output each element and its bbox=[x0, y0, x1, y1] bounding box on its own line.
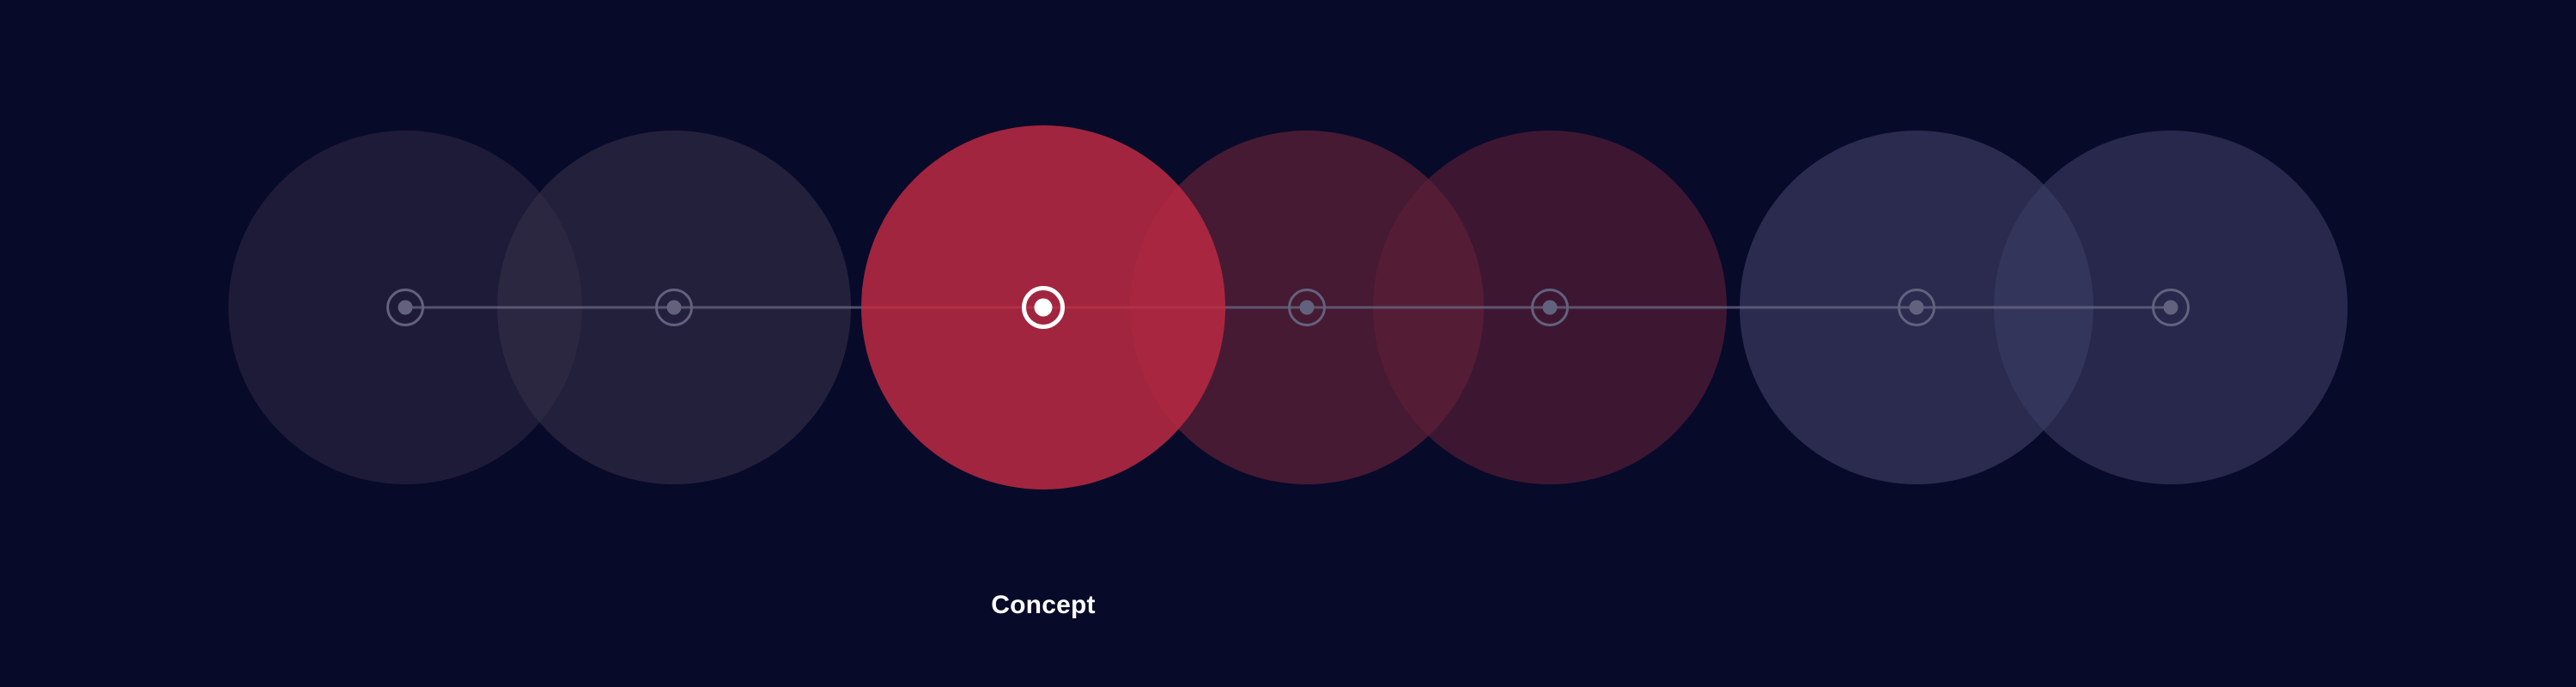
node-layer bbox=[0, 0, 2576, 687]
timeline-node[interactable] bbox=[1528, 286, 1571, 329]
node-dot-icon bbox=[398, 301, 413, 315]
timeline-node[interactable] bbox=[2149, 286, 2192, 329]
node-dot-icon bbox=[1543, 301, 1558, 315]
node-dot-icon bbox=[667, 301, 682, 315]
node-dot-icon bbox=[1300, 301, 1315, 315]
timeline-node-active[interactable] bbox=[1018, 282, 1069, 333]
active-stage-label: Concept bbox=[991, 591, 1095, 620]
node-dot-icon bbox=[1910, 301, 1924, 315]
timeline-node[interactable] bbox=[1285, 286, 1328, 329]
stage-timeline: Concept bbox=[0, 0, 2576, 687]
timeline-node[interactable] bbox=[1895, 286, 1938, 329]
node-dot-icon bbox=[2164, 301, 2178, 315]
node-dot-icon bbox=[1035, 299, 1053, 317]
timeline-node[interactable] bbox=[384, 286, 427, 329]
timeline-node[interactable] bbox=[653, 286, 696, 329]
